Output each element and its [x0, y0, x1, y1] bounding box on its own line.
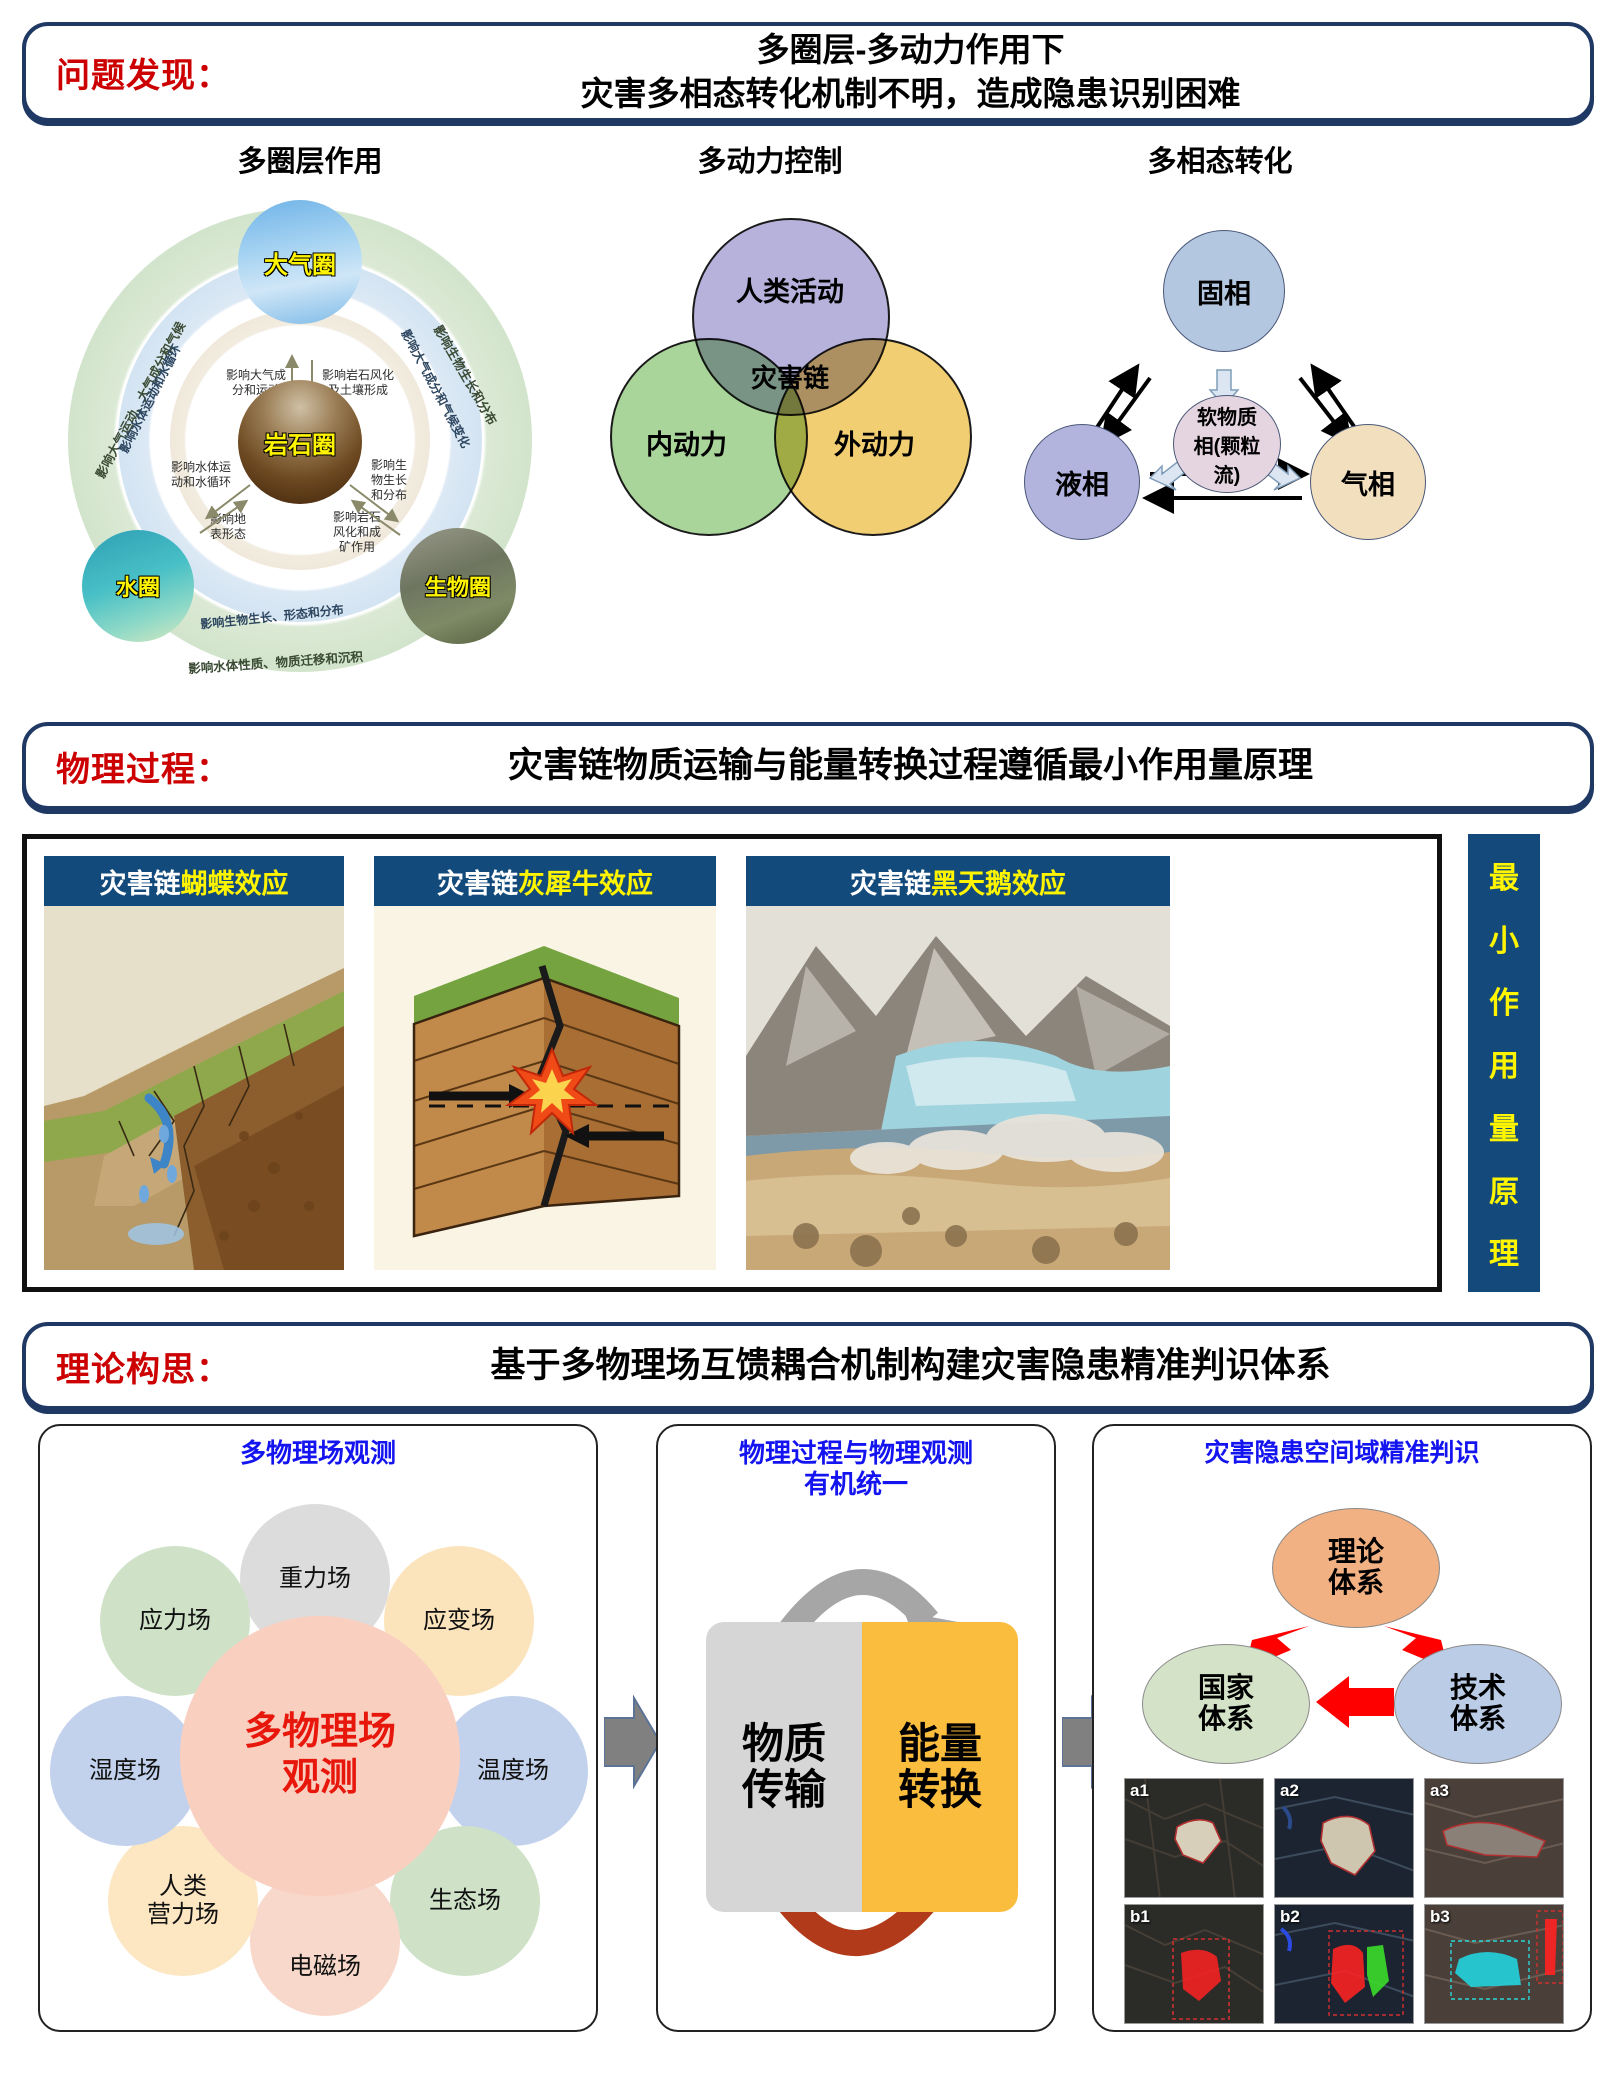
arrow-panel1-to-panel2 [604, 1690, 660, 1794]
system-ellipse-technology: 技术 体系 [1394, 1644, 1562, 1764]
thumbnail-b1: b1 [1124, 1904, 1264, 2024]
strip-char-5: 原 [1489, 1167, 1519, 1211]
section-banner-physical-process: 物理过程： 灾害链物质运输与能量转换过程遵循最小作用量原理 [22, 722, 1594, 810]
process-card-black-swan-title: 灾害链黑天鹅效应 [746, 856, 1170, 906]
field-label-stress: 应力场 [139, 1607, 211, 1635]
wheel-inner-label-5: 影响岩石 风化和成 矿作用 [322, 510, 392, 555]
thumbnail-label-a3: a3 [1430, 1781, 1449, 1801]
sphere-node-lithosphere: 岩石圈 [238, 380, 362, 504]
field-label-temperature: 温度场 [477, 1757, 549, 1785]
flow-label-mass-transport: 物质 传输 [742, 1721, 826, 1813]
sphere-node-biosphere: 生物圈 [400, 528, 516, 644]
multiphysics-center-bubble: 多物理场 观测 [180, 1616, 460, 1896]
theory-panel3-title: 灾害隐患空间域精准判识 [1094, 1438, 1590, 1468]
flow-box-mass-transport: 物质 传输 [706, 1622, 862, 1912]
strip-char-0: 最 [1489, 853, 1519, 897]
venn-label-disaster-chain: 灾害链 [751, 358, 829, 395]
thumbnail-a3: a3 [1424, 1778, 1564, 1898]
thumbnail-b3: b3 [1424, 1904, 1564, 2024]
multi-dynamics-venn: 人类活动 内动力 外动力 灾害链 [600, 218, 980, 538]
multi-sphere-wheel: 影响大气运动、大气成分和气候 影响水体运动和水循环 影响生物生长和分布 影响大气… [60, 190, 540, 690]
process-card-butterfly: 灾害链蝴蝶效应 [44, 856, 344, 1270]
field-label-ecology: 生态场 [429, 1887, 501, 1915]
card-title-prefix: 灾害链 [437, 862, 518, 901]
field-label-human-force: 人类 营力场 [147, 1873, 219, 1928]
process-card-grey-rhino-illustration [374, 906, 716, 1270]
banner-text-physical-process: 灾害链物质运输与能量转换过程遵循最小作用量原理 [231, 743, 1590, 790]
banner-label-problem: 问题发现： [26, 48, 231, 97]
section-banner-theory: 理论构思： 基于多物理场互馈耦合机制构建灾害隐患精准判识体系 [22, 1322, 1594, 1410]
column-title-dynamics: 多动力控制 [560, 138, 980, 180]
section-banner-problem: 问题发现： 多圈层-多动力作用下 灾害多相态转化机制不明，造成隐患识别困难 [22, 22, 1594, 122]
least-action-principle-strip: 最 小 作 用 量 原 理 [1468, 834, 1540, 1292]
thumbnail-label-a1: a1 [1130, 1781, 1149, 1801]
theory-panel-multiphysics-observation: 多物理场观测 重力场 应变场 温度场 生态场 电磁场 人类 营力场 湿度场 应力… [38, 1424, 598, 2032]
theory-panel2-title: 物理过程与物理观测 有机统一 [658, 1438, 1054, 1500]
process-card-grey-rhino: 灾害链灰犀牛效应 [374, 856, 716, 1270]
venn-label-human: 人类活动 [736, 270, 844, 309]
sphere-label-atmosphere: 大气圈 [264, 245, 336, 280]
system-label-national: 国家 体系 [1198, 1673, 1254, 1735]
strip-char-1: 小 [1489, 916, 1519, 960]
system-label-technology: 技术 体系 [1450, 1673, 1506, 1735]
banner-text-problem: 多圈层-多动力作用下 灾害多相态转化机制不明，造成隐患识别困难 [231, 28, 1590, 116]
wheel-inner-label-2: 影响水体运 动和水循环 [158, 460, 244, 490]
venn-label-external: 外动力 [834, 423, 915, 462]
process-card-black-swan: 灾害链黑天鹅效应 [746, 856, 1170, 1270]
card-title-highlight: 灰犀牛效应 [518, 862, 653, 901]
phase-label-liquid: 液相 [1055, 463, 1109, 502]
sphere-label-hydrosphere: 水圈 [116, 570, 160, 602]
card-title-highlight: 黑天鹅效应 [931, 862, 1066, 901]
phase-label-soft-matter: 软物质 相(颗粒 流) [1194, 401, 1261, 488]
field-label-gravity: 重力场 [279, 1565, 351, 1593]
thumbnail-label-b1: b1 [1130, 1907, 1150, 1927]
phase-node-gas: 气相 [1310, 424, 1426, 540]
wheel-inner-label-3: 影响生 物生长 和分布 [358, 458, 420, 503]
field-label-humidity: 湿度场 [89, 1757, 161, 1785]
system-label-theory: 理论 体系 [1328, 1537, 1384, 1599]
field-label-strain: 应变场 [423, 1607, 495, 1635]
thumbnail-label-a2: a2 [1280, 1781, 1299, 1801]
banner-text-theory: 基于多物理场互馈耦合机制构建灾害隐患精准判识体系 [231, 1343, 1590, 1390]
system-ellipse-national: 国家 体系 [1142, 1644, 1310, 1764]
thumbnail-a2: a2 [1274, 1778, 1414, 1898]
thumbnail-label-b2: b2 [1280, 1907, 1300, 1927]
multiphysics-center-label: 多物理场 观测 [244, 1710, 396, 1801]
phase-label-gas: 气相 [1341, 463, 1395, 502]
sphere-label-lithosphere: 岩石圈 [264, 425, 336, 460]
venn-label-internal: 内动力 [646, 423, 727, 462]
theory-panel-process-observation-unity: 物理过程与物理观测 有机统一 物质 传输 能量 转换 [656, 1424, 1056, 2032]
process-card-butterfly-illustration [44, 906, 344, 1270]
field-label-electromagnetic: 电磁场 [289, 1953, 361, 1981]
sphere-label-biosphere: 生物圈 [425, 570, 491, 602]
field-bubble-humidity: 湿度场 [50, 1696, 200, 1846]
flow-label-energy-conversion: 能量 转换 [898, 1721, 982, 1813]
process-card-grey-rhino-title: 灾害链灰犀牛效应 [374, 856, 716, 906]
card-title-prefix: 灾害链 [850, 862, 931, 901]
strip-char-4: 量 [1489, 1104, 1519, 1148]
column-title-spheres: 多圈层作用 [110, 138, 510, 180]
phase-node-soft-matter: 软物质 相(颗粒 流) [1173, 395, 1281, 493]
theory-panel-hazard-identification: 灾害隐患空间域精准判识 理论 体系 技术 体系 国家 体系 a1 a2 [1092, 1424, 1592, 2032]
field-bubble-temperature: 温度场 [438, 1696, 588, 1846]
process-card-butterfly-title: 灾害链蝴蝶效应 [44, 856, 344, 906]
phase-transformation-diagram: 固相 软物质 相(颗粒 流) 液相 气相 [1010, 210, 1440, 540]
phase-node-liquid: 液相 [1024, 424, 1140, 540]
sphere-node-hydrosphere: 水圈 [82, 530, 194, 642]
theory-panel1-title: 多物理场观测 [40, 1438, 596, 1469]
strip-char-2: 作 [1489, 978, 1519, 1022]
wheel-inner-label-4: 影响地 表形态 [198, 512, 258, 542]
strip-char-6: 理 [1489, 1229, 1519, 1273]
phase-label-solid: 固相 [1197, 272, 1251, 311]
strip-char-3: 用 [1489, 1041, 1519, 1085]
thumbnail-label-b3: b3 [1430, 1907, 1450, 1927]
card-title-highlight: 蝴蝶效应 [181, 862, 289, 901]
phase-node-solid: 固相 [1163, 230, 1285, 352]
card-title-prefix: 灾害链 [100, 862, 181, 901]
banner-label-physical-process: 物理过程： [26, 742, 231, 791]
column-title-phases: 多相态转化 [1000, 138, 1440, 180]
sphere-node-atmosphere: 大气圈 [238, 200, 362, 324]
flow-box-energy-conversion: 能量 转换 [862, 1622, 1018, 1912]
process-card-black-swan-illustration [746, 906, 1170, 1270]
thumbnail-a1: a1 [1124, 1778, 1264, 1898]
system-ellipse-theory: 理论 体系 [1272, 1508, 1440, 1628]
thumbnail-b2: b2 [1274, 1904, 1414, 2024]
banner-label-theory: 理论构思： [26, 1342, 231, 1391]
